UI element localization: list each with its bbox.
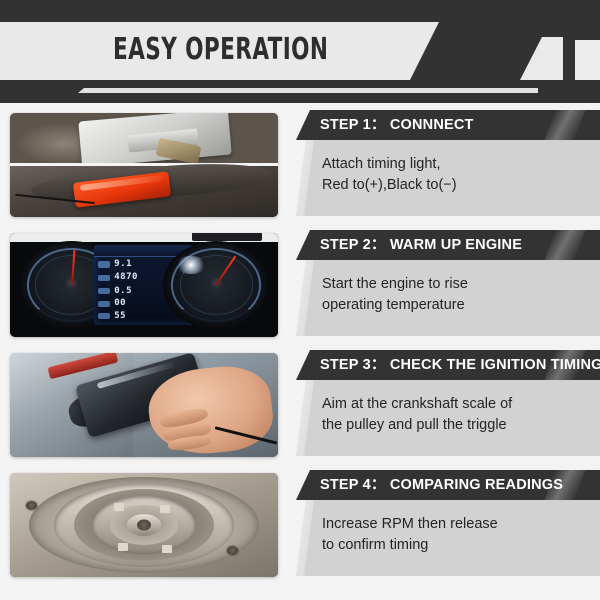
page-header: EASY OPERATION (0, 0, 600, 103)
pulley-bolt-left (26, 501, 37, 510)
step-4-heading: STEP 4： COMPARING READINGS (320, 470, 563, 500)
step-1-text: Attach timing light, Red to(+),Black to(… (322, 154, 457, 196)
step-2-text: Start the engine to rise operating tempe… (322, 274, 468, 316)
step-4-body: Increase RPM then release to confirm tim… (296, 500, 600, 576)
header-top-band (0, 0, 600, 22)
battery-terminal-connection-photo (10, 113, 278, 217)
step-1-header: STEP 1： CONNNECT (296, 110, 600, 140)
step-3-panel: STEP 3： CHECK THE IGNITION TIMING Aim at… (296, 350, 600, 456)
step-1-heading: STEP 1： CONNNECT (320, 110, 474, 140)
lcd-icon-4 (98, 301, 110, 307)
photo3-background (10, 353, 278, 457)
pulley-tab-2 (160, 505, 170, 513)
lcd-icon-1 (98, 261, 110, 267)
lcd-icon-5 (98, 313, 110, 319)
step-3-body-edge (296, 380, 314, 456)
pulley-tab-4 (162, 545, 172, 553)
instrument-cluster-photo: 9.1 4870 0.5 00 55 (10, 233, 278, 337)
tachometer-dial (163, 241, 270, 328)
step-2-header-shine (545, 230, 586, 260)
step-2-heading: STEP 2： WARM UP ENGINE (320, 230, 522, 260)
photo2-light-glare (176, 256, 205, 274)
lcd-icon-3 (98, 288, 110, 294)
step-4-header: STEP 4： COMPARING READINGS (296, 470, 600, 500)
step-2-body: Start the engine to rise operating tempe… (296, 260, 600, 336)
timing-light-in-hand-photo (10, 353, 278, 457)
pulley-center-bolt (137, 520, 151, 531)
step-3-text: Aim at the crankshaft scale of the pulle… (322, 394, 512, 436)
step-3-heading: STEP 3： CHECK THE IGNITION TIMING (320, 350, 600, 380)
step-1-body: Attach timing light, Red to(+),Black to(… (296, 140, 600, 216)
pulley-tab-1 (114, 503, 124, 511)
header-bottom-accent-line (78, 88, 538, 93)
step-1-panel: STEP 1： CONNNECT Attach timing light, Re… (296, 110, 600, 216)
step-2-body-edge (296, 260, 314, 336)
lcd-row-5: 55 (114, 312, 183, 321)
crankshaft-pulley-photo (10, 473, 278, 577)
photo4-background (10, 473, 278, 577)
lcd-icon-2 (98, 275, 110, 281)
step-1-body-edge (296, 140, 314, 216)
step-4-panel: STEP 4： COMPARING READINGS Increase RPM … (296, 470, 600, 576)
step-2-header: STEP 2： WARM UP ENGINE (296, 230, 600, 260)
step-2-panel: STEP 2： WARM UP ENGINE Start the engine … (296, 230, 600, 336)
photo2-upper-dark-block (192, 233, 262, 241)
step-4-body-edge (296, 500, 314, 576)
poster-root: EASY OPERATION (0, 0, 600, 600)
header-right-light-block (575, 40, 600, 80)
pulley-tab-3 (118, 543, 128, 551)
step-3-header: STEP 3： CHECK THE IGNITION TIMING (296, 350, 600, 380)
pulley-bolt-right (227, 546, 238, 555)
photo2-cluster-background: 9.1 4870 0.5 00 55 (10, 233, 278, 337)
page-title: EASY OPERATION (113, 33, 328, 67)
step-1-header-shine (545, 110, 586, 140)
step-3-body: Aim at the crankshaft scale of the pulle… (296, 380, 600, 456)
step-4-text: Increase RPM then release to confirm tim… (322, 514, 498, 556)
